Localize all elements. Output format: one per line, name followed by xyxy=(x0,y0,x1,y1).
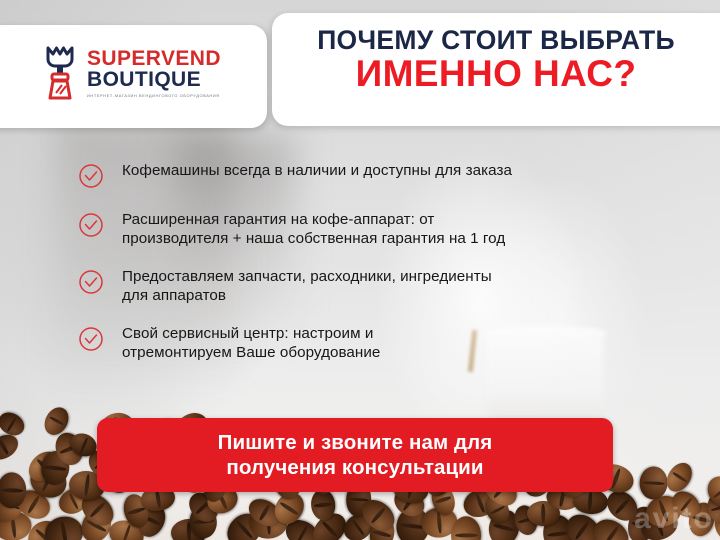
benefit-line: для аппаратов xyxy=(122,286,492,305)
benefit-text: Свой сервисный центр: настроим и отремон… xyxy=(122,324,380,363)
promo-banner: SUPERVEND BOUTIQUE ИНТЕРНЕТ-МАГАЗИН ВЕНД… xyxy=(0,0,720,540)
cta-button[interactable]: Пишите и звоните нам для получения консу… xyxy=(97,418,613,492)
benefit-line: Предоставляем запчасти, расходники, ингр… xyxy=(122,267,492,286)
logo-wordmark: SUPERVEND BOUTIQUE ИНТЕРНЕТ-МАГАЗИН ВЕНД… xyxy=(87,48,221,98)
logo-line-supervend: SUPERVEND xyxy=(87,48,221,69)
headline: ПОЧЕМУ СТОИТ ВЫБРАТЬ ИМЕННО НАС? xyxy=(280,26,712,94)
benefit-line: Кофемашины всегда в наличии и доступны д… xyxy=(122,161,512,180)
check-circle-icon xyxy=(78,269,104,295)
benefit-item: Расширенная гарантия на кофе-аппарат: от… xyxy=(78,210,678,249)
benefit-text: Расширенная гарантия на кофе-аппарат: от… xyxy=(122,210,505,249)
benefit-line: производителя + наша собственная гаранти… xyxy=(122,229,505,248)
benefit-item: Свой сервисный центр: настроим и отремон… xyxy=(78,324,678,363)
check-circle-icon xyxy=(78,212,104,238)
cta-line-1: Пишите и звоните нам для xyxy=(218,430,493,455)
check-circle-icon xyxy=(78,326,104,352)
benefit-text: Предоставляем запчасти, расходники, ингр… xyxy=(122,267,492,306)
benefit-line: Свой сервисный центр: настроим и xyxy=(122,324,380,343)
coffee-machine-logo-icon xyxy=(42,44,78,102)
benefit-line: Расширенная гарантия на кофе-аппарат: от xyxy=(122,210,505,229)
brand-logo[interactable]: SUPERVEND BOUTIQUE ИНТЕРНЕТ-МАГАЗИН ВЕНД… xyxy=(42,44,221,102)
logo-subtitle: ИНТЕРНЕТ-МАГАЗИН ВЕНДИНГОВОГО ОБОРУДОВАН… xyxy=(87,93,221,98)
benefit-item: Предоставляем запчасти, расходники, ингр… xyxy=(78,267,678,306)
cta-label: Пишите и звоните нам для получения консу… xyxy=(218,430,493,480)
benefit-item: Кофемашины всегда в наличии и доступны д… xyxy=(78,161,678,189)
headline-line-2: ИМЕННО НАС? xyxy=(280,55,712,93)
benefit-text: Кофемашины всегда в наличии и доступны д… xyxy=(122,161,512,180)
benefits-list: Кофемашины всегда в наличии и доступны д… xyxy=(78,161,678,381)
check-circle-icon xyxy=(78,163,104,189)
headline-line-1: ПОЧЕМУ СТОИТ ВЫБРАТЬ xyxy=(280,26,712,54)
benefit-line: отремонтируем Ваше оборудование xyxy=(122,343,380,362)
cta-line-2: получения консультации xyxy=(218,455,493,480)
logo-line-boutique: BOUTIQUE xyxy=(87,69,221,91)
